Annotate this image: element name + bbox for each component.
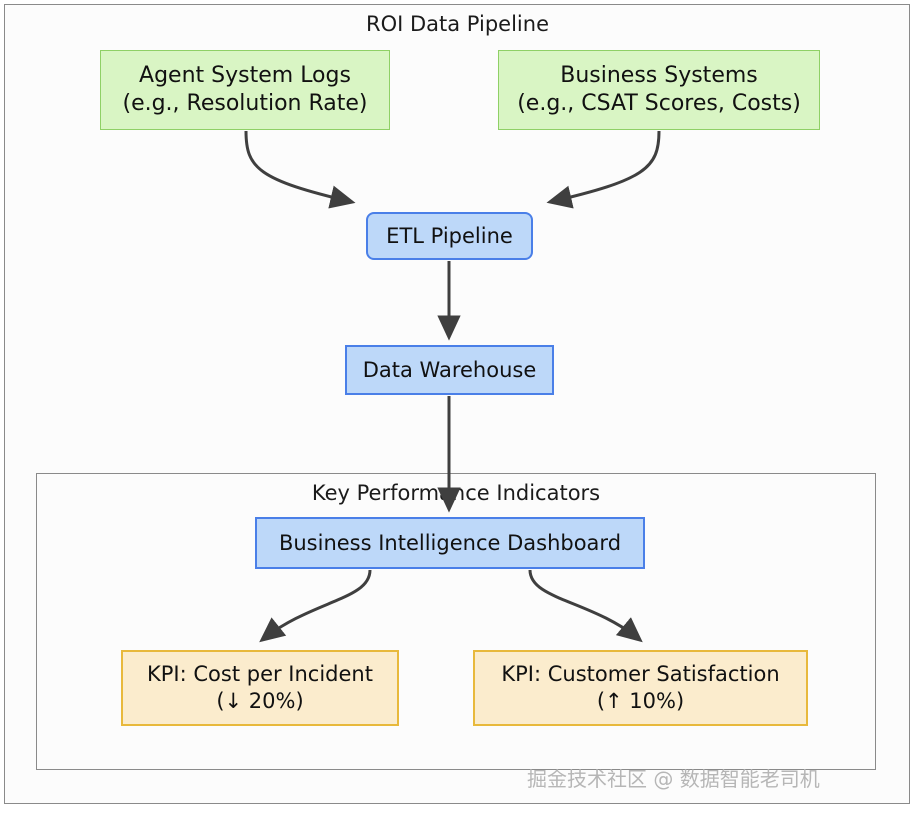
node-agent-system-logs-line2: (e.g., Resolution Rate) — [122, 90, 367, 118]
subgraph-title-key-performance-indicators: Key Performance Indicators — [36, 481, 876, 505]
node-kpi-customer-satisfaction[interactable]: KPI: Customer Satisfaction (↑ 10%) — [473, 650, 808, 726]
node-kpi-customer-satisfaction-line1: KPI: Customer Satisfaction — [501, 661, 779, 688]
node-agent-system-logs[interactable]: Agent System Logs (e.g., Resolution Rate… — [100, 50, 390, 130]
node-etl-pipeline-label: ETL Pipeline — [386, 223, 513, 250]
node-business-intelligence-dashboard-label: Business Intelligence Dashboard — [279, 530, 621, 557]
subgraph-title-roi-data-pipeline: ROI Data Pipeline — [0, 12, 915, 36]
node-etl-pipeline[interactable]: ETL Pipeline — [366, 212, 533, 260]
node-business-systems-line2: (e.g., CSAT Scores, Costs) — [517, 90, 801, 118]
node-business-systems[interactable]: Business Systems (e.g., CSAT Scores, Cos… — [498, 50, 820, 130]
node-business-systems-line1: Business Systems — [517, 62, 801, 90]
node-data-warehouse-label: Data Warehouse — [363, 357, 537, 384]
node-kpi-cost-per-incident-line2: (↓ 20%) — [147, 688, 373, 715]
node-kpi-cost-per-incident-line1: KPI: Cost per Incident — [147, 661, 373, 688]
node-business-intelligence-dashboard[interactable]: Business Intelligence Dashboard — [255, 517, 645, 569]
watermark-text: 掘金技术社区 @ 数据智能老司机 — [527, 763, 820, 792]
diagram-canvas: ROI Data Pipeline Key Performance Indica… — [0, 0, 915, 813]
node-agent-system-logs-line1: Agent System Logs — [122, 62, 367, 90]
node-kpi-cost-per-incident[interactable]: KPI: Cost per Incident (↓ 20%) — [121, 650, 399, 726]
node-kpi-customer-satisfaction-line2: (↑ 10%) — [501, 688, 779, 715]
node-data-warehouse[interactable]: Data Warehouse — [345, 345, 554, 395]
